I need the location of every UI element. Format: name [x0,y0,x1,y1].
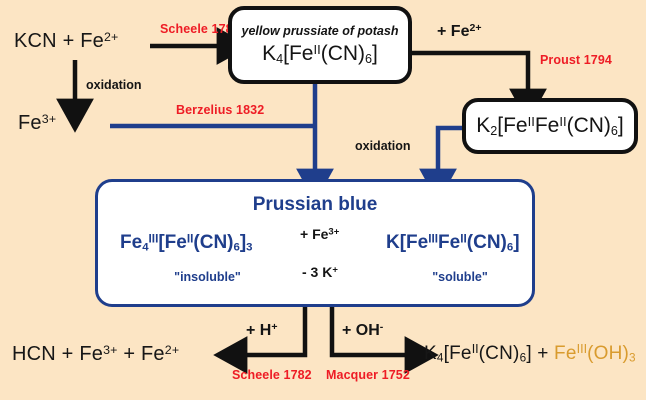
formula-soluble: K[FeIIIFeII(CN)6] [386,232,520,254]
k2-ox2: II [559,114,566,129]
formula-insoluble: Fe4III[FeII(CN)6]3 [120,232,253,254]
bp-close: ] + [526,343,554,364]
bp-open: [Fe [444,343,472,364]
label-minus-3k-text: - 3 K [302,264,332,280]
label-plus-fe3-text: + Fe [300,226,328,242]
k2-mid: Fe [535,114,560,137]
node-fe3: Fe3+ [18,112,56,135]
k2-k: K [476,114,490,137]
yellow-prussiate-formula: K4[FeII(CN)6] [262,42,378,66]
label-soluble: "soluble" [386,270,534,284]
reactants-kcn-fe2-charge: 2+ [104,30,119,44]
box-k2-ferrocyanide: K2[FeIIFeII(CN)6] [462,98,638,154]
label-add-h-text: + H [246,322,271,339]
box-prussian-blue: Prussian blue Fe4III[FeII(CN)6]3 "insolu… [95,179,535,307]
edge-yellowprussiate-to-k2box [412,53,528,94]
yp-k: K [262,42,276,65]
label-add-h-charge: + [271,321,277,333]
products-hcn-charge2: 2+ [165,343,180,357]
label-add-oh-charge: - [380,321,384,333]
yp-open: [Fe [283,42,313,65]
label-oxidation-right: oxidation [355,139,411,153]
sol-mid: Fe [438,232,460,253]
sol-ox1: III [428,232,438,245]
label-insoluble: "insoluble" [120,270,295,284]
label-minus-3k: - 3 K+ [302,264,338,280]
products-hcn-charge1: 3+ [103,343,118,357]
label-minus-3k-charge: + [332,265,338,276]
reaction-scheme-canvas: KCN + Fe2+ Scheele 1782 oxidation Fe3+ B… [0,0,646,400]
yellow-prussiate-caption: yellow prussiate of potash [242,24,399,38]
label-plus-fe3: + Fe3+ [300,226,339,242]
ins-tail: (CN) [193,232,233,253]
products-hcn: HCN + Fe3+ + Fe2+ [12,343,179,366]
bp-ox: II [472,342,479,356]
node-fe3-text: Fe [18,112,42,134]
k2-tail-sub: 6 [611,124,618,138]
products-hcn-text: HCN + Fe [12,343,103,365]
label-add-fe2-charge: 2+ [469,22,481,34]
ins-close-sub: 3 [246,242,252,254]
ins-fe: Fe [120,232,142,253]
citation-macquer: Macquer 1752 [326,368,410,382]
label-oxidation-left: oxidation [86,78,142,92]
bp-ochre-sub: 3 [629,351,636,364]
bp-k: K [424,343,437,364]
yp-ox: II [313,42,320,57]
yp-tail-sub: 6 [365,52,372,66]
box-yellow-prussiate: yellow prussiate of potash K4[FeII(CN)6] [228,6,412,84]
reactants-kcn-fe2-text: KCN + Fe [14,30,104,52]
ins-fe-ox: III [149,232,159,245]
citation-scheele-bottom: Scheele 1782 [232,368,312,382]
label-add-fe2: + Fe2+ [437,22,482,41]
label-add-h: + H+ [246,321,278,340]
node-fe3-charge: 3+ [42,112,57,126]
ins-open: [Fe [158,232,187,253]
bp-ochre-tail: (OH) [587,343,629,364]
bp-tail: (CN) [479,343,520,364]
label-plus-fe3-charge: 3+ [328,227,339,238]
k2-close: ] [618,114,624,137]
label-add-oh-text: + OH [342,322,380,339]
citation-proust: Proust 1794 [540,53,612,67]
sol-close: ] [513,232,519,253]
k2-open: [Fe [497,114,527,137]
sol-open: [Fe [400,232,429,253]
sol-k: K [386,232,400,253]
k2-ox1: II [528,114,535,129]
label-add-oh: + OH- [342,321,383,340]
yp-close: ] [372,42,378,65]
label-add-fe2-text: + Fe [437,23,469,40]
k2-formula: K2[FeIIFeII(CN)6] [476,114,624,138]
bp-ochre-fe: Fe [554,343,577,364]
reactants-kcn-fe2: KCN + Fe2+ [14,30,119,53]
products-hcn-mid: + Fe [118,343,165,365]
yp-tail: (CN) [321,42,365,65]
products-ferrocyanide-hydroxide: K4[FeII(CN)6] + FeIII(OH)3 [424,342,636,365]
bp-k-sub: 4 [437,351,444,364]
bp-ochre-ox: III [577,342,587,356]
citation-berzelius: Berzelius 1832 [176,103,264,117]
prussian-blue-title: Prussian blue [98,194,532,216]
k2-tail: (CN) [567,114,611,137]
sol-tail: (CN) [467,232,507,253]
